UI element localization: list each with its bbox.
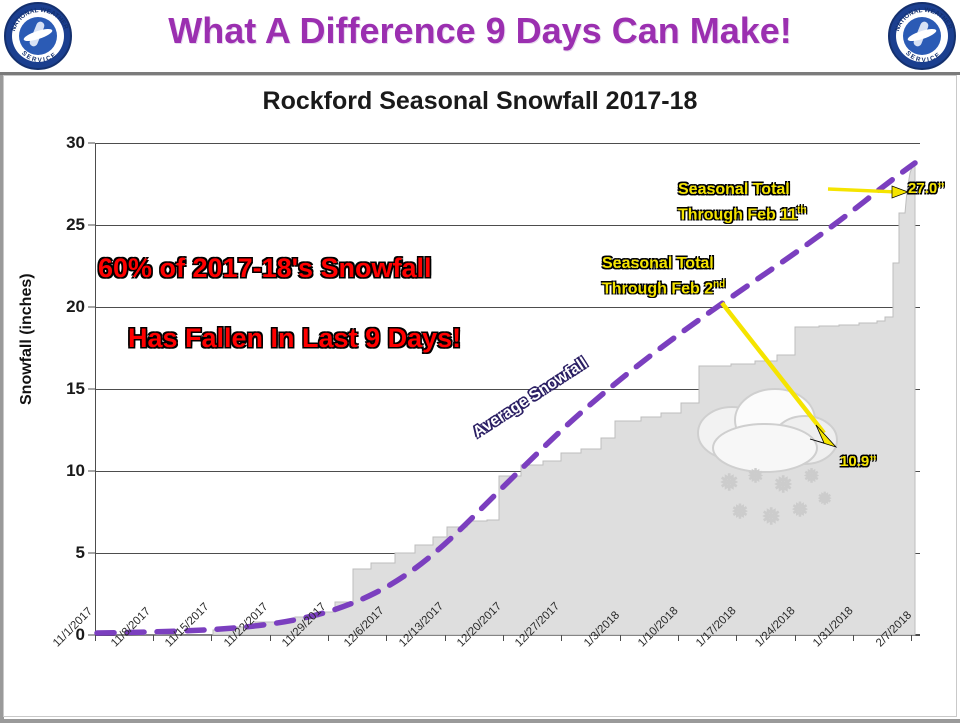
annotation-feb11-arrow-icon: [826, 179, 916, 207]
annotation-feb11-line1: Seasonal Total: [678, 181, 790, 199]
callout-red-line2: Has Fallen In Last 9 Days!: [128, 323, 461, 354]
callout-red-line1: 60% of 2017-18's Snowfall: [98, 253, 432, 284]
y-tick-label: 25: [66, 215, 85, 235]
svg-text:❅: ❅: [762, 504, 780, 529]
slide-header: NATIONAL WEATHER S E R V I C E What A Di…: [0, 0, 960, 72]
chart-panel: Rockford Seasonal Snowfall 2017-18 Snowf…: [0, 72, 960, 723]
y-tick-label: 30: [66, 133, 85, 153]
annotation-feb2-line2-text: Through Feb 2: [602, 280, 713, 297]
annotation-feb11-line2-sup: th: [797, 205, 806, 216]
svg-text:❅: ❅: [748, 466, 763, 486]
page-title: What A Difference 9 Days Can Make!: [0, 10, 960, 52]
y-tick-label: 15: [66, 379, 85, 399]
annotation-feb11-value: 27.0”: [908, 180, 945, 197]
annotation-feb2-arrow-icon: [718, 299, 858, 459]
annotation-feb2-line2: Through Feb 2nd: [602, 279, 725, 298]
y-tick-label: 20: [66, 297, 85, 317]
annotation-feb11-line2-text: Through Feb 11: [678, 206, 797, 223]
annotation-feb2-line1: Seasonal Total: [602, 255, 714, 273]
y-tick-label: 5: [76, 543, 85, 563]
y-axis-label: Snowfall (inches): [18, 273, 36, 405]
svg-text:❅: ❅: [732, 502, 748, 523]
annotation-feb2-line2-sup: nd: [713, 279, 725, 290]
nws-logo-icon: NATIONAL WEATHER S E R V I C E: [888, 2, 956, 70]
svg-text:❅: ❅: [792, 500, 808, 521]
svg-text:❅: ❅: [774, 472, 792, 497]
chart-title: Rockford Seasonal Snowfall 2017-18: [0, 87, 960, 116]
slide-root: NATIONAL WEATHER S E R V I C E What A Di…: [0, 0, 960, 720]
y-tick-label: 10: [66, 461, 85, 481]
svg-text:❅: ❅: [818, 491, 831, 508]
svg-text:❅: ❅: [804, 466, 819, 486]
annotation-feb2-value: 10.9”: [840, 453, 877, 470]
annotation-feb11-line2: Through Feb 11th: [678, 205, 806, 224]
svg-text:❅: ❅: [720, 470, 738, 495]
